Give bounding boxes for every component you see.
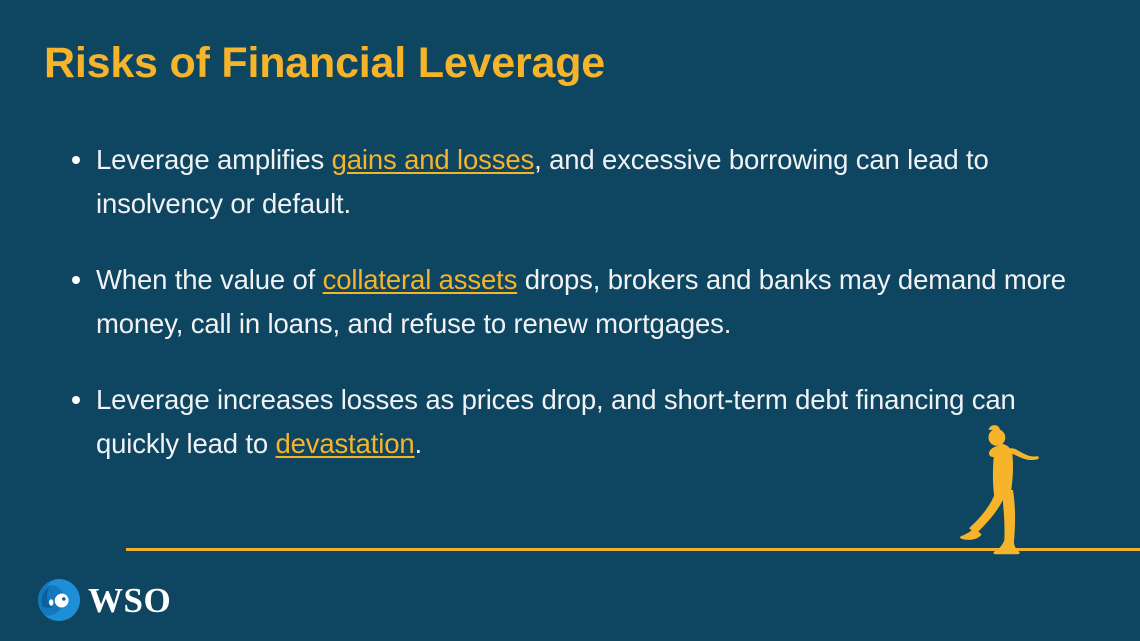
wso-wordmark: WSO (88, 583, 171, 618)
slide-canvas: Risks of Financial Leverage Leverage amp… (0, 0, 1140, 641)
list-item: Leverage amplifies gains and losses, and… (62, 138, 1102, 226)
bullet-segment: Leverage amplifies (96, 144, 332, 175)
inline-link-collateral-assets[interactable]: collateral assets (323, 264, 518, 295)
list-item: Leverage increases losses as prices drop… (62, 378, 1102, 466)
bullet-marker-icon (72, 276, 80, 284)
wso-swirl-icon (36, 577, 82, 623)
inline-link-devastation[interactable]: devastation (276, 428, 415, 459)
bullet-text: Leverage amplifies gains and losses, and… (96, 138, 1102, 226)
bullet-marker-icon (72, 156, 80, 164)
tightrope-walker-icon (958, 418, 1063, 563)
bullet-text: When the value of collateral assets drop… (96, 258, 1102, 346)
bullet-marker-icon (72, 396, 80, 404)
bullet-segment: Leverage increases losses as prices drop… (96, 384, 1016, 459)
page-title: Risks of Financial Leverage (44, 40, 605, 87)
bullet-text: Leverage increases losses as prices drop… (96, 378, 1102, 466)
bullet-segment: . (415, 428, 423, 459)
bullet-list: Leverage amplifies gains and losses, and… (62, 138, 1102, 466)
wso-logo: WSO (36, 576, 171, 624)
inline-link-gains-and-losses[interactable]: gains and losses (332, 144, 534, 175)
bullet-segment: When the value of (96, 264, 323, 295)
list-item: When the value of collateral assets drop… (62, 258, 1102, 346)
